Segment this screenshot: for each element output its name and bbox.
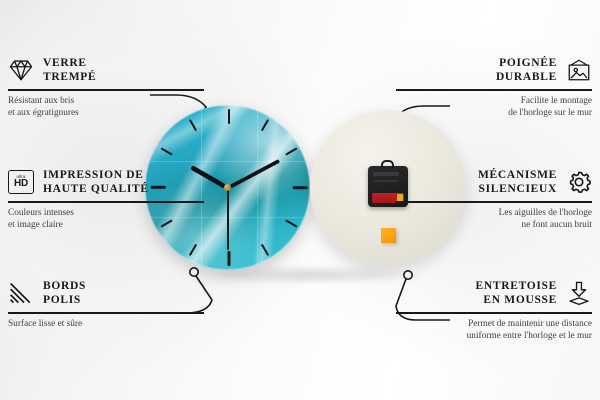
callout-impression-haute-qualite: ultra HD IMPRESSION DE HAUTE QUALITÉ Cou… bbox=[8, 168, 204, 232]
callout-verre-trempe: VERRE TREMPÉ Résistant aux bris et aux é… bbox=[8, 56, 204, 120]
callout-description: Couleurs intenses et image claire bbox=[8, 207, 204, 232]
callout-rule bbox=[396, 312, 592, 314]
callout-desc-line1: Résistant aux bris bbox=[8, 95, 204, 108]
callout-header: ENTRETOISE EN MOUSSE bbox=[396, 279, 592, 307]
callout-header: VERRE TREMPÉ bbox=[8, 56, 204, 84]
diamond-icon bbox=[8, 57, 34, 83]
badge-large-label: HD bbox=[14, 179, 28, 189]
callout-rule bbox=[396, 89, 592, 91]
callout-title-line2: HAUTE QUALITÉ bbox=[43, 182, 149, 196]
callout-title-line1: POIGNÉE bbox=[496, 56, 557, 70]
mechanism-detail bbox=[373, 172, 399, 176]
callout-title-line2: TREMPÉ bbox=[43, 70, 96, 84]
callout-desc-line2: ne font aucun bruit bbox=[396, 219, 592, 232]
callout-description: Facilite le montage de l'horloge sur le … bbox=[396, 95, 592, 120]
infographic-stage: VERRE TREMPÉ Résistant aux bris et aux é… bbox=[0, 0, 600, 400]
clock-tick bbox=[228, 251, 231, 266]
callout-title-line2: SILENCIEUX bbox=[478, 182, 557, 196]
callout-title-line2: POLIS bbox=[43, 293, 86, 307]
callout-title: IMPRESSION DE HAUTE QUALITÉ bbox=[43, 168, 149, 196]
callout-rule bbox=[8, 312, 204, 314]
gear-icon bbox=[566, 169, 592, 195]
wall-hanger-icon bbox=[381, 160, 394, 168]
callout-rule bbox=[396, 201, 592, 203]
callout-rule bbox=[8, 201, 204, 203]
callout-title-line1: MÉCANISME bbox=[478, 168, 557, 182]
callout-desc-line1: Couleurs intenses bbox=[8, 207, 204, 220]
callout-desc-line1: Facilite le montage bbox=[396, 95, 592, 108]
callout-desc-line2: de l'horloge sur le mur bbox=[396, 107, 592, 120]
callout-description: Permet de maintenir une distance uniform… bbox=[396, 318, 592, 343]
callout-title-line1: IMPRESSION DE bbox=[43, 168, 149, 182]
callout-title: MÉCANISME SILENCIEUX bbox=[478, 168, 557, 196]
wall-mount-frame-icon bbox=[566, 57, 592, 83]
callout-poignee-durable: POIGNÉE DURABLE Facilite le montage de l… bbox=[396, 56, 592, 120]
callout-desc-line2: et image claire bbox=[8, 219, 204, 232]
ultra-hd-badge-icon: ultra HD bbox=[8, 170, 34, 194]
callout-title-line1: BORDS bbox=[43, 279, 86, 293]
callout-entretoise-en-mousse: ENTRETOISE EN MOUSSE Permet de maintenir… bbox=[396, 279, 592, 343]
callout-title: ENTRETOISE EN MOUSSE bbox=[476, 279, 557, 307]
foam-spacer bbox=[381, 228, 396, 243]
callout-desc-line2: uniforme entre l'horloge et le mur bbox=[396, 330, 592, 343]
callout-desc-line1: Surface lisse et sûre bbox=[8, 318, 204, 331]
callout-title-line1: ENTRETOISE bbox=[476, 279, 557, 293]
callout-title-line2: DURABLE bbox=[496, 70, 557, 84]
callout-header: ultra HD IMPRESSION DE HAUTE QUALITÉ bbox=[8, 168, 204, 196]
callout-mecanisme-silencieux: MÉCANISME SILENCIEUX Les aiguilles de l'… bbox=[396, 168, 592, 232]
callout-header: BORDS POLIS bbox=[8, 279, 204, 307]
callout-rule bbox=[8, 89, 204, 91]
clock-second-hand bbox=[227, 188, 229, 250]
callout-header: MÉCANISME SILENCIEUX bbox=[396, 168, 592, 196]
callout-description: Résistant aux bris et aux égratignures bbox=[8, 95, 204, 120]
foam-spacer-arrow-icon bbox=[566, 280, 592, 306]
callout-title: VERRE TREMPÉ bbox=[43, 56, 96, 84]
callout-title: BORDS POLIS bbox=[43, 279, 86, 307]
callout-description: Surface lisse et sûre bbox=[8, 318, 204, 331]
callout-title-line2: EN MOUSSE bbox=[476, 293, 557, 307]
callout-header: POIGNÉE DURABLE bbox=[396, 56, 592, 84]
clock-tick bbox=[228, 109, 231, 124]
callout-title: POIGNÉE DURABLE bbox=[496, 56, 557, 84]
callout-desc-line1: Les aiguilles de l'horloge bbox=[396, 207, 592, 220]
polished-edge-icon bbox=[8, 280, 34, 306]
clock-tick bbox=[292, 186, 307, 189]
callout-title-line1: VERRE bbox=[43, 56, 96, 70]
callout-desc-line1: Permet de maintenir une distance bbox=[396, 318, 592, 331]
callout-description: Les aiguilles de l'horloge ne font aucun… bbox=[396, 207, 592, 232]
callout-bords-polis: BORDS POLIS Surface lisse et sûre bbox=[8, 279, 204, 330]
callout-desc-line2: et aux égratignures bbox=[8, 107, 204, 120]
clock-center-cap bbox=[224, 184, 231, 191]
